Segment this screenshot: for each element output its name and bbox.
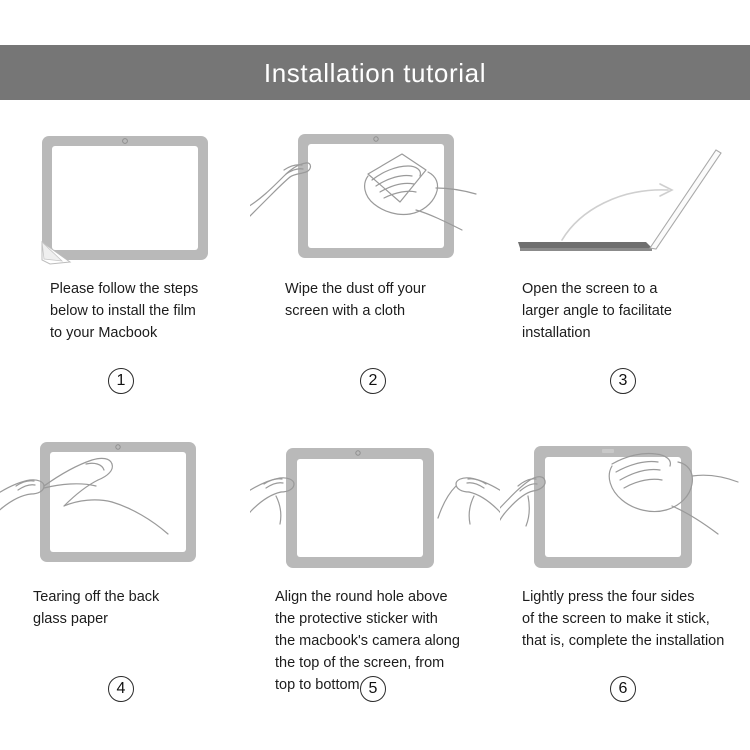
step-caption: Please follow the steps below to install…: [50, 278, 245, 344]
screen-with-peeling-film-corner-illustration: [0, 130, 250, 270]
hands-pressing-screen-edges-illustration: [500, 438, 750, 578]
tutorial-step-3: Open the screen to a larger angle to fac…: [500, 100, 750, 408]
step-number-badge: 6: [610, 676, 636, 702]
step-number-badge: 4: [108, 676, 134, 702]
two-hands-aligning-film-illustration: [250, 438, 500, 578]
step-number-badge: 5: [360, 676, 386, 702]
tutorial-step-2: Wipe the dust off your screen with a clo…: [250, 100, 500, 408]
tutorial-steps-grid: Please follow the steps below to install…: [0, 100, 750, 750]
laptop-open-angle-illustration: [500, 130, 750, 270]
tutorial-step-1: Please follow the steps below to install…: [0, 100, 250, 408]
step-number-badge: 2: [360, 368, 386, 394]
tutorial-step-4: Tearing off the back glass paper 4: [0, 408, 250, 728]
step-caption: Tearing off the back glass paper: [33, 586, 233, 630]
hand-tearing-back-paper-illustration: [0, 438, 250, 578]
hands-wiping-screen-illustration: [250, 130, 500, 270]
tutorial-step-6: Lightly press the four sides of the scre…: [500, 408, 750, 728]
tutorial-step-5: Align the round hole above the protectiv…: [250, 408, 500, 728]
step-caption: Lightly press the four sides of the scre…: [522, 586, 750, 652]
page-title: Installation tutorial: [264, 60, 486, 86]
step-caption: Open the screen to a larger angle to fac…: [522, 278, 732, 344]
header-banner: Installation tutorial: [0, 45, 750, 100]
step-number-badge: 1: [108, 368, 134, 394]
step-number-badge: 3: [610, 368, 636, 394]
step-caption: Wipe the dust off your screen with a clo…: [285, 278, 490, 322]
